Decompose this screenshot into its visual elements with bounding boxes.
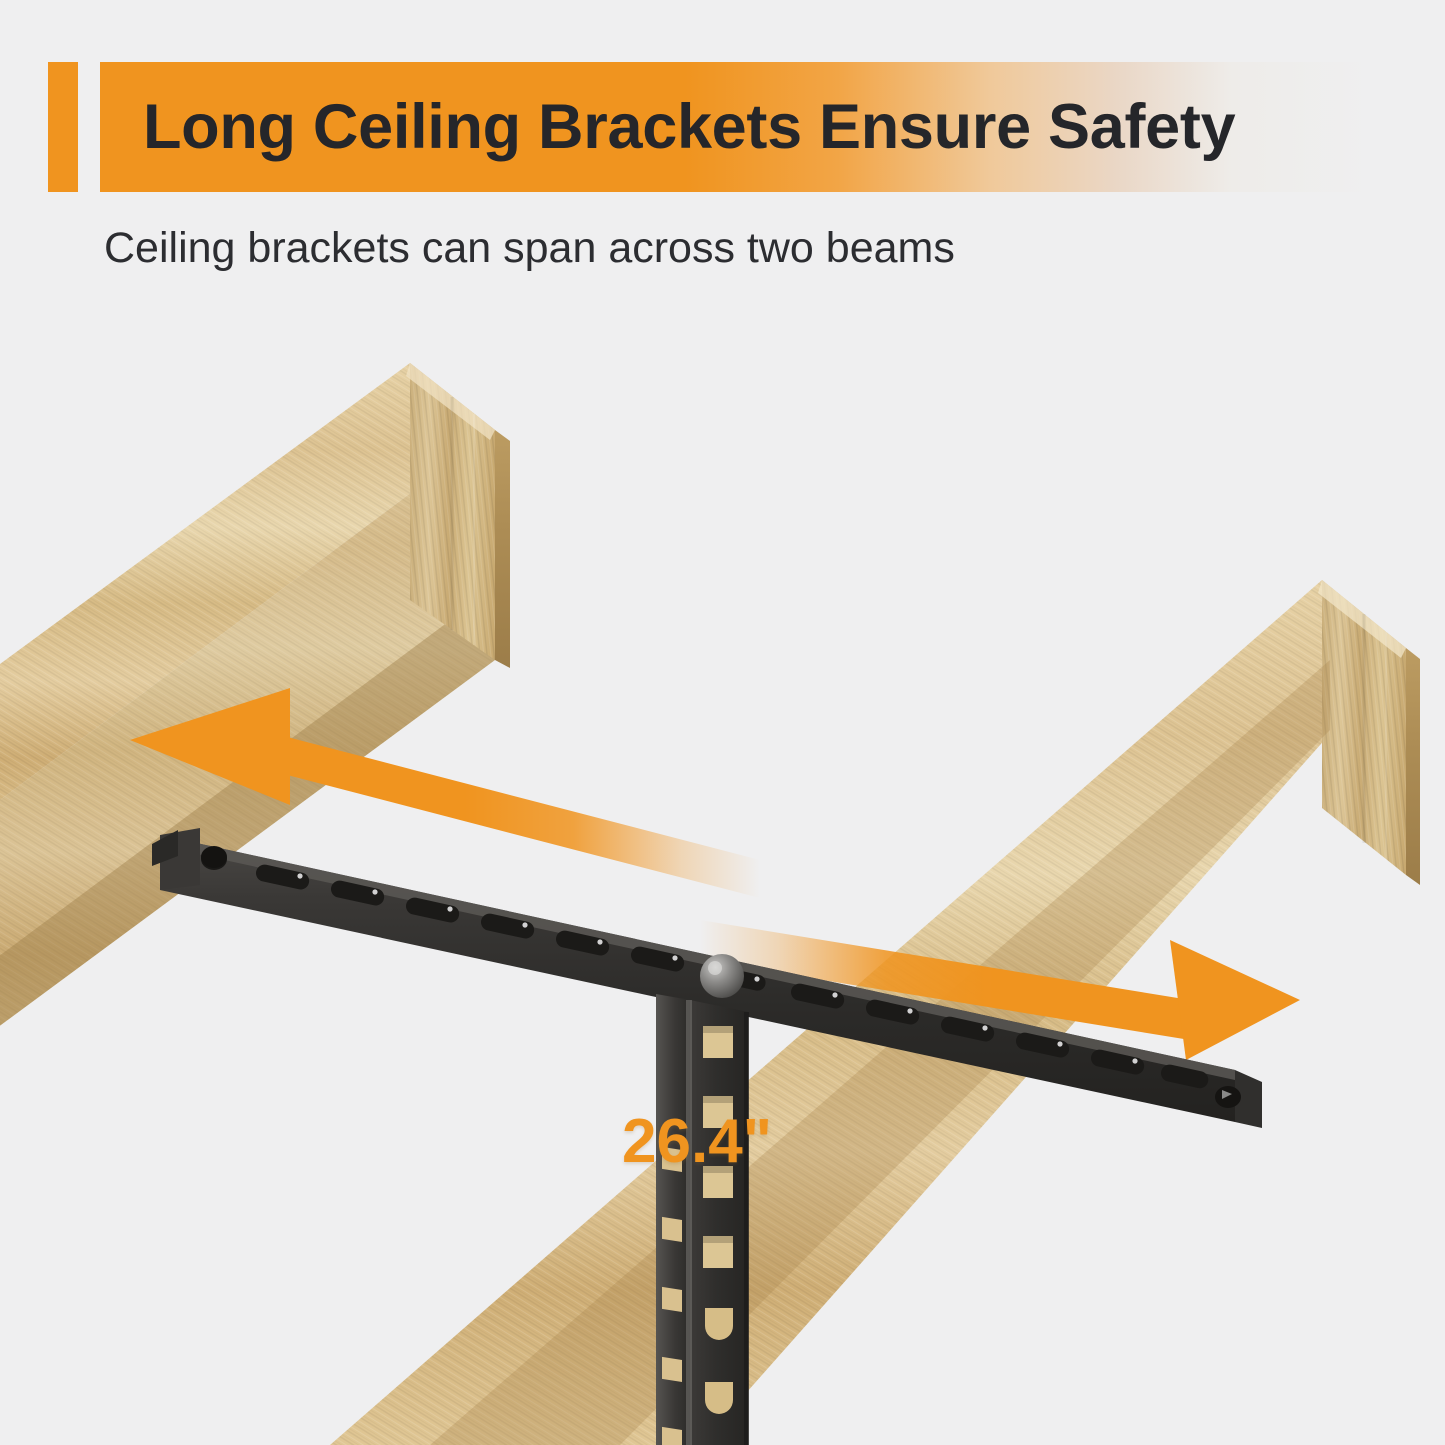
span-dimension-label: 26.4" xyxy=(622,1106,772,1177)
page-subtitle: Ceiling brackets can span across two bea… xyxy=(104,224,955,273)
header-section: Long Ceiling Brackets Ensure Safety Ceil… xyxy=(0,0,1445,300)
center-pivot-bolt xyxy=(700,954,744,998)
page-title: Long Ceiling Brackets Ensure Safety xyxy=(143,62,1373,192)
product-photo: 26.4" xyxy=(0,300,1445,1445)
product-feature-card: Long Ceiling Brackets Ensure Safety Ceil… xyxy=(0,0,1445,1445)
vertical-bracket-post xyxy=(656,994,749,1445)
header-accent-bar xyxy=(48,62,78,192)
